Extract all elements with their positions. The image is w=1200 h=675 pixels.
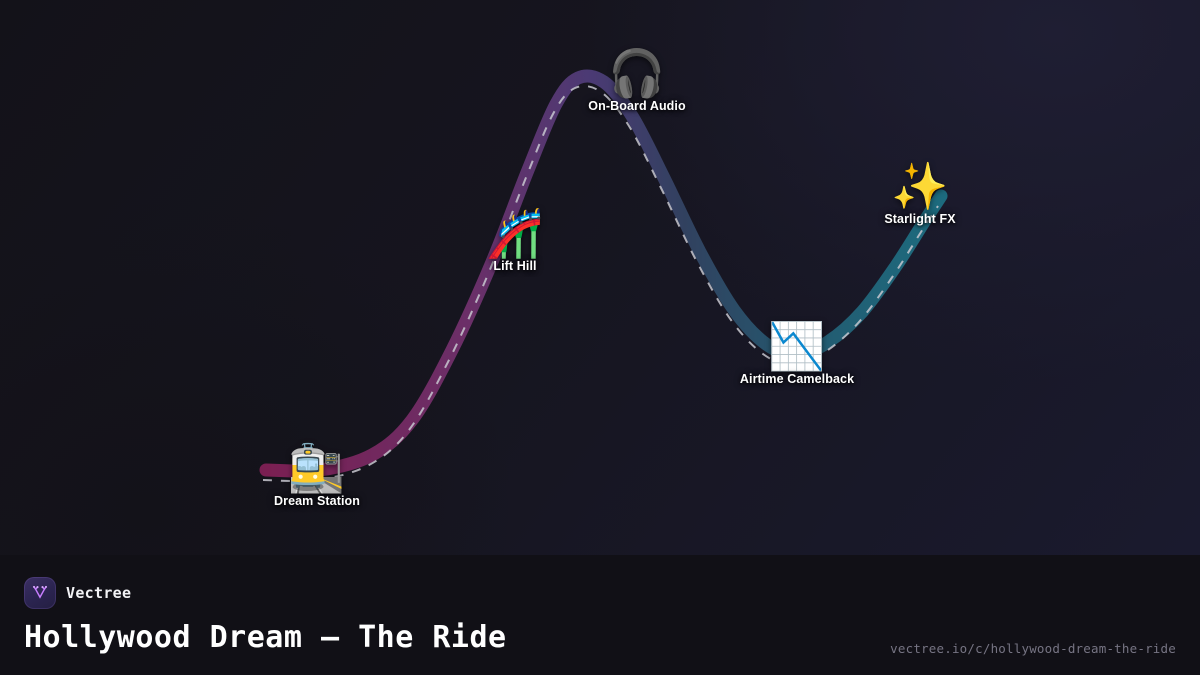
milestone-node-on-board-audio[interactable]: 🎧On-Board Audio: [588, 48, 685, 113]
headphone-emoji: 🎧: [588, 48, 685, 98]
milestone-label: Airtime Camelback: [740, 372, 854, 386]
milestone-node-airtime-camelback[interactable]: 📉Airtime Camelback: [740, 321, 854, 386]
milestone-node-lift-hill[interactable]: 🎢Lift Hill: [486, 208, 543, 273]
roller-coaster-emoji: 🎢: [486, 208, 543, 258]
milestone-label: On-Board Audio: [588, 99, 685, 113]
milestone-node-starlight-fx[interactable]: ✨Starlight FX: [884, 161, 955, 226]
brand: Vectree: [24, 577, 1176, 609]
track-centerline: [263, 86, 938, 481]
page-url: vectree.io/c/hollywood-dream-the-ride: [890, 641, 1176, 656]
coaster-infographic: 🚉Dream Station🎢Lift Hill🎧On-Board Audio📉…: [0, 0, 1200, 675]
milestone-label: Dream Station: [274, 494, 360, 508]
chart-decreasing-emoji: 📉: [740, 321, 854, 371]
vectree-logo-icon: [24, 577, 56, 609]
milestone-label: Starlight FX: [884, 212, 955, 226]
sparkles-emoji: ✨: [884, 161, 955, 211]
footer-bar: Vectree Hollywood Dream – The Ride vectr…: [0, 555, 1200, 675]
milestone-node-dream-station[interactable]: 🚉Dream Station: [274, 443, 360, 508]
track-path: [266, 76, 941, 471]
brand-name: Vectree: [66, 584, 131, 602]
station-emoji: 🚉: [274, 443, 360, 493]
track-canvas: 🚉Dream Station🎢Lift Hill🎧On-Board Audio📉…: [0, 0, 1200, 555]
milestone-label: Lift Hill: [486, 259, 543, 273]
